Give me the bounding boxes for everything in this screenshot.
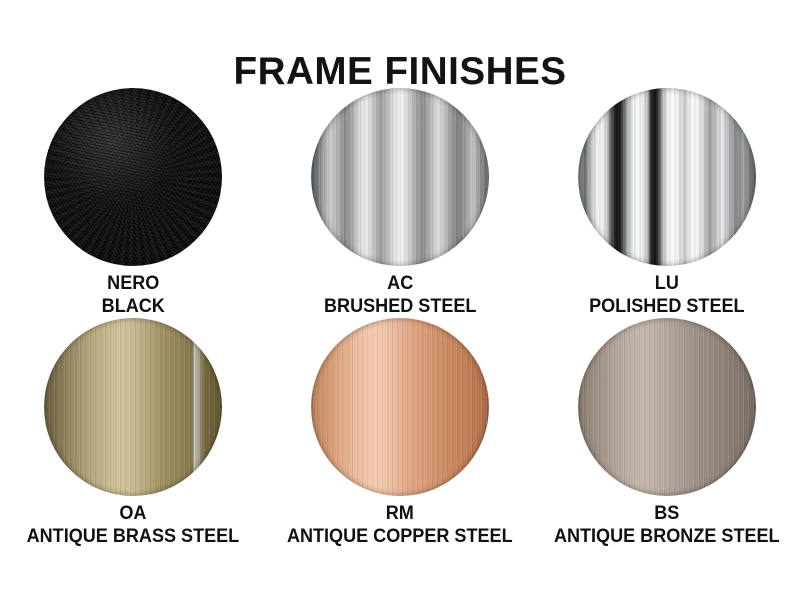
finish-label-ac: AC BRUSHED STEEL: [320, 272, 480, 318]
swatch-texture-ac: [311, 88, 489, 266]
swatch-texture-nero: [44, 88, 222, 266]
swatch-oa-antique-brass-steel[interactable]: [44, 318, 222, 496]
finish-code: AC: [324, 272, 476, 295]
finish-description: ANTIQUE COPPER STEEL: [287, 525, 513, 548]
finish-description: BRUSHED STEEL: [324, 295, 476, 318]
swatch-texture-rm: [311, 318, 489, 496]
finish-label-nero: NERO BLACK: [100, 272, 167, 318]
swatch-ac-brushed-steel[interactable]: [311, 88, 489, 266]
finish-description: ANTIQUE BRASS STEEL: [27, 525, 240, 548]
finish-item-nero[interactable]: NERO BLACK: [0, 88, 267, 318]
page-title: FRAME FINISHES: [4, 52, 796, 91]
finish-code: LU: [589, 272, 744, 295]
swatch-texture-bs: [578, 318, 756, 496]
finish-description: ANTIQUE BRONZE STEEL: [554, 525, 780, 548]
finish-description: BLACK: [102, 295, 165, 318]
finish-code: RM: [287, 502, 513, 525]
finish-item-bs[interactable]: BS ANTIQUE BRONZE STEEL: [533, 318, 800, 548]
finish-swatch-grid: NERO BLACK AC BRUSHED STEEL: [0, 88, 800, 548]
swatch-texture-lu: [578, 88, 756, 266]
finish-label-lu: LU POLISHED STEEL: [585, 272, 749, 318]
finish-row-1: NERO BLACK AC BRUSHED STEEL: [0, 88, 800, 318]
finish-row-2: OA ANTIQUE BRASS STEEL RM ANTIQUE COPPER…: [0, 318, 800, 548]
finish-label-bs: BS ANTIQUE BRONZE STEEL: [548, 502, 786, 548]
swatch-rm-antique-copper-steel[interactable]: [311, 318, 489, 496]
finish-item-oa[interactable]: OA ANTIQUE BRASS STEEL: [0, 318, 267, 548]
finish-code: OA: [27, 502, 240, 525]
finish-item-ac[interactable]: AC BRUSHED STEEL: [267, 88, 534, 318]
finish-code: BS: [554, 502, 780, 525]
swatch-nero-black[interactable]: [44, 88, 222, 266]
finish-item-rm[interactable]: RM ANTIQUE COPPER STEEL: [267, 318, 534, 548]
frame-finishes-page: FRAME FINISHES NERO BLACK: [0, 0, 800, 600]
finish-code: NERO: [102, 272, 165, 295]
swatch-bs-antique-bronze-steel[interactable]: [578, 318, 756, 496]
finish-description: POLISHED STEEL: [589, 295, 744, 318]
finish-label-rm: RM ANTIQUE COPPER STEEL: [281, 502, 519, 548]
swatch-texture-oa: [44, 318, 222, 496]
finish-label-oa: OA ANTIQUE BRASS STEEL: [21, 502, 245, 548]
finish-item-lu[interactable]: LU POLISHED STEEL: [533, 88, 800, 318]
swatch-lu-polished-steel[interactable]: [578, 88, 756, 266]
